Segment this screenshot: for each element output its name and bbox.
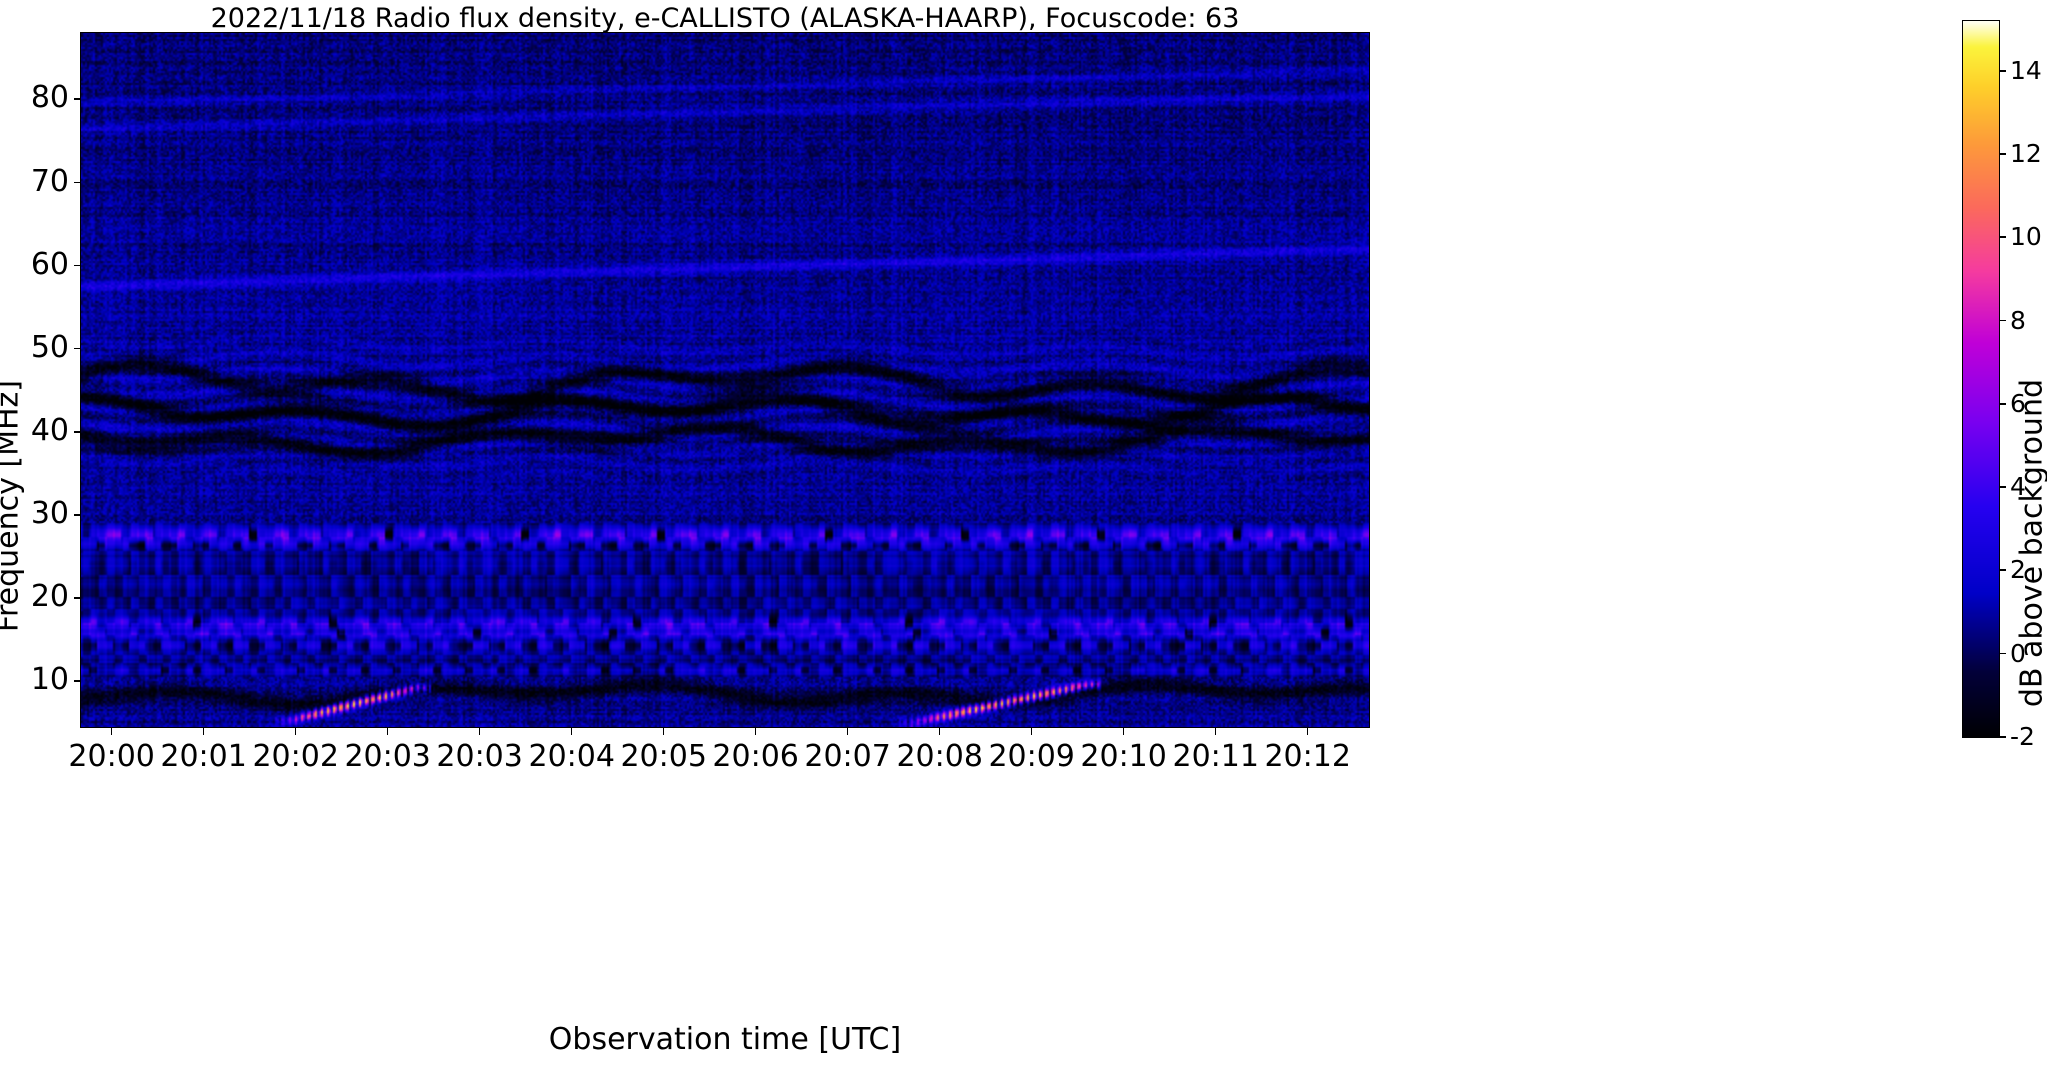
x-tick-mark: [111, 727, 113, 735]
y-axis-label: Frequency [MHz]: [0, 380, 26, 632]
y-tick-label: 10: [31, 662, 69, 698]
colorbar-tick-mark: [1999, 486, 2006, 488]
x-tick-mark: [295, 727, 297, 735]
x-axis-ticks: 20:0020:0120:0220:0320:0320:0420:0520:06…: [81, 33, 1369, 727]
y-axis-label-container: Frequency [MHz]: [16, 32, 17, 728]
y-tick-mark: [74, 680, 81, 682]
colorbar-tick-mark: [1999, 236, 2006, 238]
colorbar-tick-mark: [1999, 320, 2006, 322]
x-tick-mark: [479, 727, 481, 735]
colorbar-tick-mark: [1999, 153, 2006, 155]
x-tick-mark: [571, 727, 573, 735]
y-tick-label: 70: [31, 164, 69, 200]
x-tick-label: 20:06: [712, 739, 798, 775]
x-tick-label: 20:09: [988, 739, 1074, 775]
x-tick-label: 20:05: [620, 739, 706, 775]
x-tick-mark: [203, 727, 205, 735]
x-tick-mark: [1031, 727, 1033, 735]
y-tick-mark: [74, 431, 81, 433]
x-tick-mark: [847, 727, 849, 735]
y-tick-mark: [74, 98, 81, 100]
y-tick-label: 80: [31, 80, 69, 116]
x-tick-label: 20:00: [68, 739, 154, 775]
colorbar-tick-mark: [1999, 653, 2006, 655]
colorbar-tick-label: 14: [2010, 56, 2042, 86]
spectrogram-axes[interactable]: 1020304050607080 20:0020:0120:0220:0320:…: [80, 32, 1370, 728]
x-tick-label: 20:08: [896, 739, 982, 775]
x-tick-label: 20:11: [1172, 739, 1258, 775]
x-tick-label: 20:07: [804, 739, 890, 775]
x-tick-label: 20:01: [160, 739, 246, 775]
y-tick-mark: [74, 265, 81, 267]
x-axis-label: Observation time [UTC]: [80, 1022, 1370, 1057]
colorbar-tick-mark: [1999, 403, 2006, 405]
y-tick-mark: [74, 348, 81, 350]
x-tick-label: 20:02: [252, 739, 338, 775]
colorbar-tick-mark: [1999, 70, 2006, 72]
colorbar-gradient: [1963, 21, 1999, 737]
colorbar-tick-mark: [1999, 569, 2006, 571]
x-tick-mark: [1123, 727, 1125, 735]
colorbar-tick-label: 10: [2010, 222, 2042, 252]
x-tick-mark: [939, 727, 941, 735]
y-tick-label: 60: [31, 247, 69, 283]
x-tick-label: 20:04: [528, 739, 614, 775]
x-tick-label: 20:10: [1080, 739, 1166, 775]
y-tick-mark: [74, 597, 81, 599]
x-tick-label: 20:03: [344, 739, 430, 775]
colorbar-label-container: dB above background: [2032, 20, 2033, 738]
y-tick-label: 40: [31, 413, 69, 449]
x-tick-mark: [1307, 727, 1309, 735]
page-title: 2022/11/18 Radio flux density, e-CALLIST…: [80, 4, 1370, 34]
colorbar-tick-mark: [1999, 736, 2006, 738]
colorbar[interactable]: -202468101214: [1962, 20, 2000, 738]
colorbar-tick-label: 12: [2010, 139, 2042, 169]
x-tick-label: 20:12: [1264, 739, 1350, 775]
y-tick-mark: [74, 514, 81, 516]
colorbar-tick-label: 8: [2010, 306, 2026, 336]
figure-canvas: 2022/11/18 Radio flux density, e-CALLIST…: [0, 0, 2047, 1067]
x-tick-mark: [663, 727, 665, 735]
y-tick-label: 30: [31, 496, 69, 532]
x-tick-label: 20:03: [436, 739, 522, 775]
y-tick-mark: [74, 182, 81, 184]
y-tick-label: 20: [31, 579, 69, 615]
colorbar-label: dB above background: [2015, 379, 2047, 707]
y-tick-label: 50: [31, 330, 69, 366]
x-tick-mark: [755, 727, 757, 735]
x-tick-mark: [1215, 727, 1217, 735]
x-tick-mark: [387, 727, 389, 735]
